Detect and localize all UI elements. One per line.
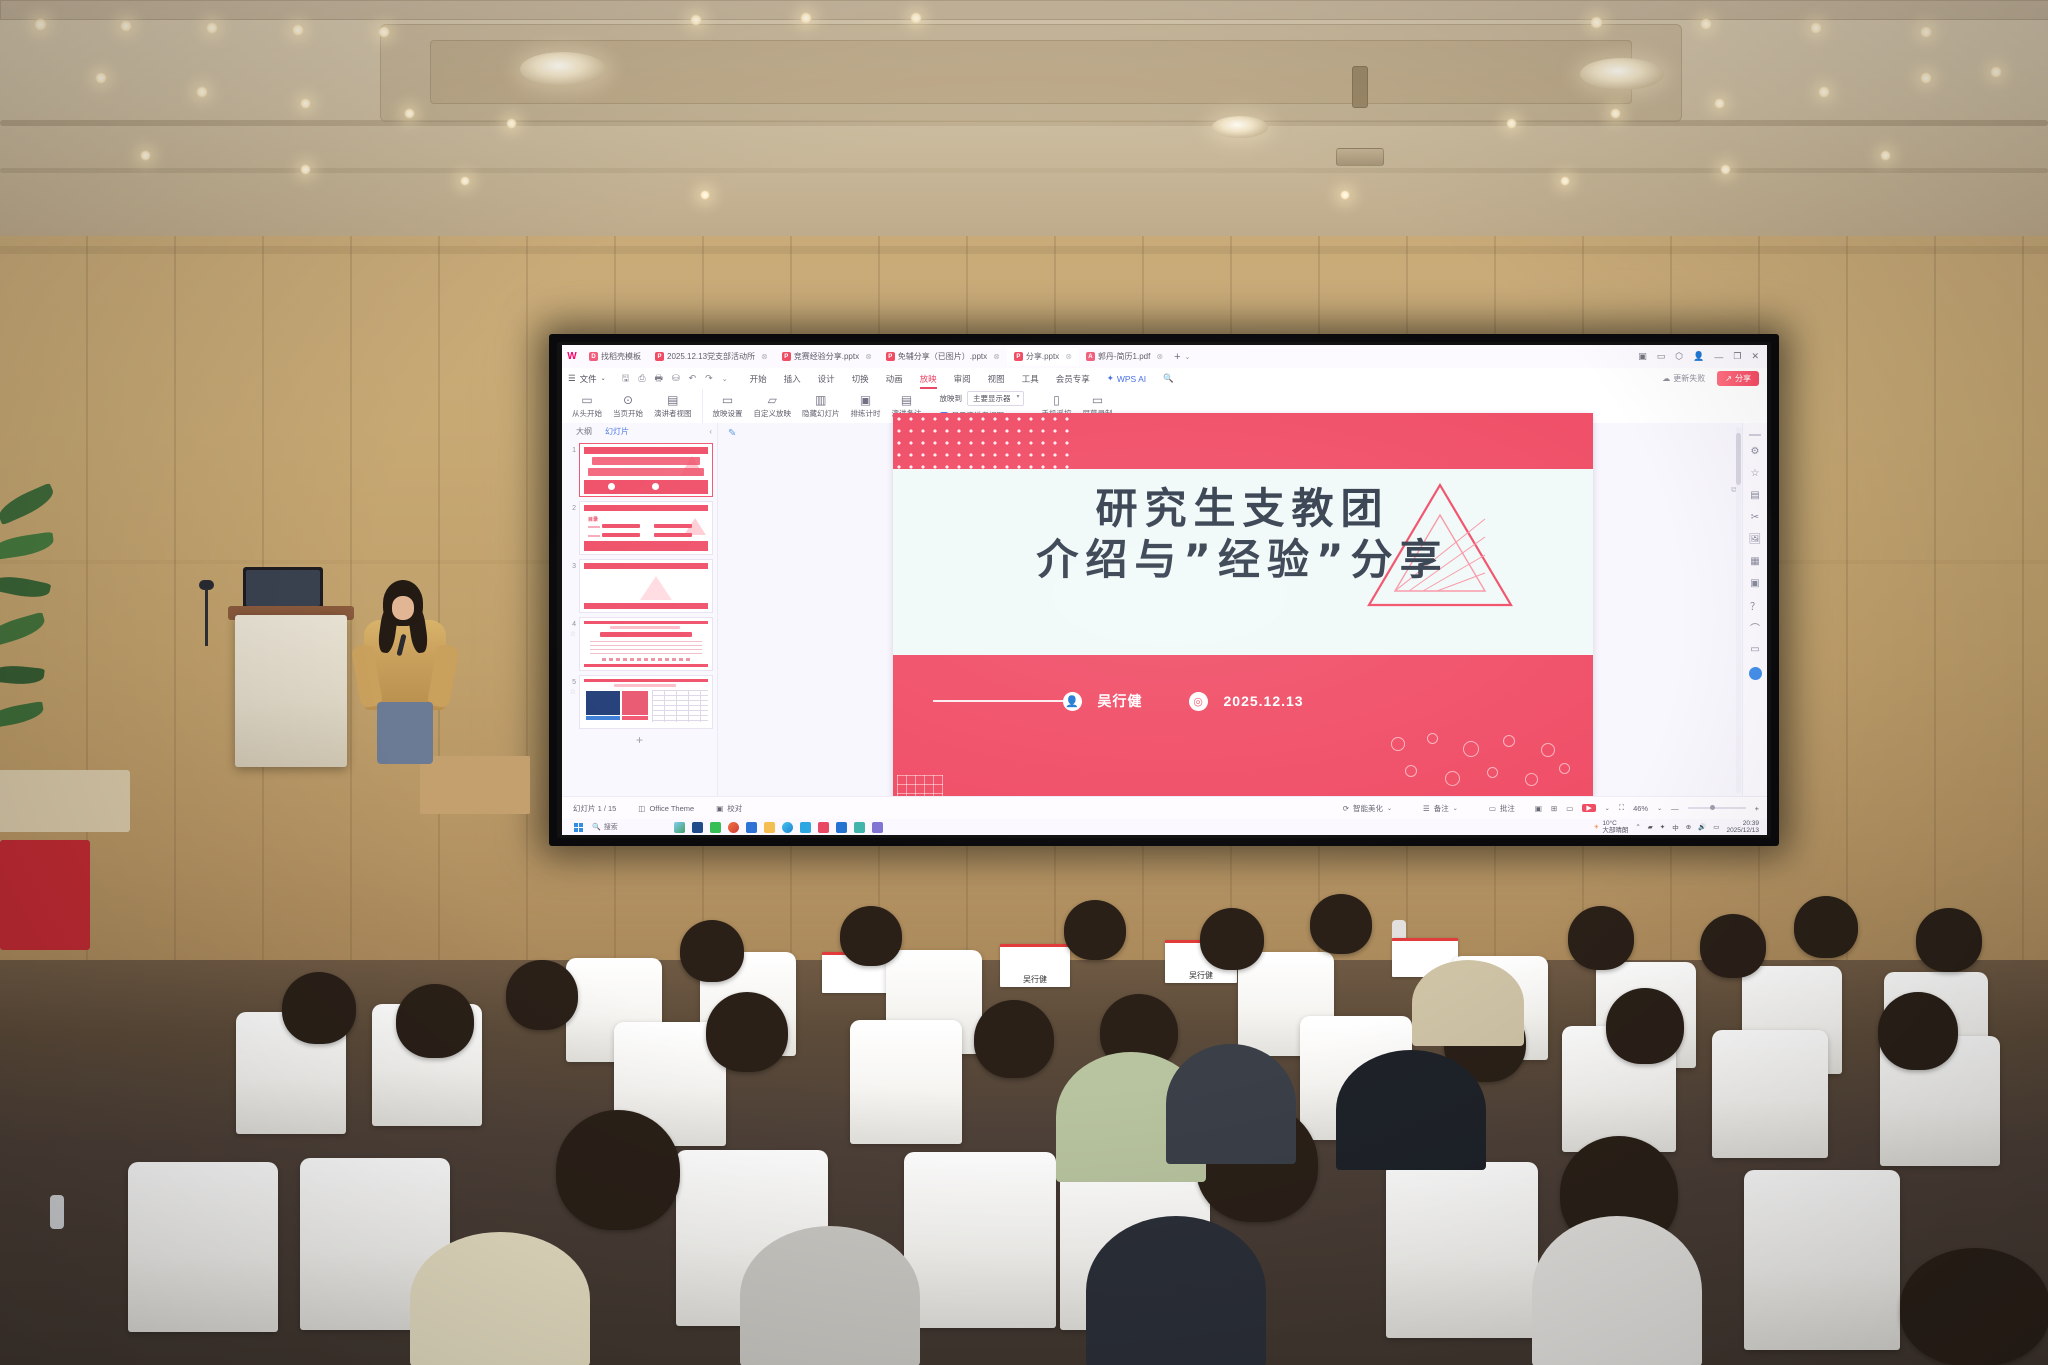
thumbnail-list: 1 2: [562, 439, 717, 797]
play-current-icon: ⊙: [623, 394, 633, 406]
tab-slides[interactable]: 幻灯片: [605, 426, 629, 437]
show-settings-button[interactable]: ▭ 放映设置: [713, 394, 743, 423]
notes-icon: ☰: [1423, 804, 1430, 813]
share-button[interactable]: ↗ 分享: [1717, 371, 1759, 386]
shapes-icon[interactable]: ✂: [1749, 511, 1762, 524]
feedback-icon[interactable]: ▭: [1749, 643, 1762, 656]
presentation-date: 2025.12.13: [1224, 693, 1304, 709]
tab-label: 分享.pptx: [1026, 351, 1059, 362]
rehearse-timing-icon: ▣: [860, 394, 871, 406]
screen-record-icon: ▭: [1092, 394, 1103, 406]
update-status[interactable]: ☁ 更新失败: [1662, 373, 1705, 384]
chevron-left-icon[interactable]: ‹: [709, 427, 712, 436]
screenshot-icon[interactable]: ▣: [1638, 351, 1647, 362]
slide-number: 1: [572, 447, 576, 454]
slide-canvas-area: ✎: [718, 423, 1767, 797]
close-icon[interactable]: ⊗: [1156, 352, 1163, 361]
slide-number: 5: [572, 679, 576, 686]
headset-icon[interactable]: ⌒: [1749, 621, 1762, 634]
bluetooth-icon[interactable]: ✦: [1660, 823, 1665, 831]
weather-text: 10°C 大部晴朗: [1602, 820, 1628, 834]
tab-label: 郭丹-简历1.pdf: [1098, 351, 1150, 362]
thumbnail-row[interactable]: 1: [562, 441, 717, 499]
undo-icon[interactable]: ↶: [689, 373, 697, 384]
thumbnail-row[interactable]: 5 ☆: [562, 673, 717, 731]
ppt-icon: P: [886, 352, 895, 361]
button-label: 隐藏幻灯片: [802, 408, 840, 419]
projector-screen: W D 找稻壳模板 P 2025.12.13党支部活动所 ⊗ P 竞赛经验分享.…: [562, 345, 1767, 835]
slide-canvas[interactable]: 研究生支教团 介绍与”经验”分享 👤 吴行健 ◎ 2025.12.13: [893, 413, 1593, 807]
ceiling: [0, 0, 2048, 250]
divider: [933, 700, 1063, 702]
globe-icon[interactable]: ⊕: [1686, 823, 1691, 831]
speaker-face: [392, 596, 414, 620]
slide-meta-row: 👤 吴行健 ◎ 2025.12.13: [893, 691, 1593, 711]
ai-ball-icon[interactable]: [1749, 667, 1762, 680]
close-icon[interactable]: ⊗: [865, 352, 872, 361]
slide-thumbnail-1[interactable]: [579, 443, 713, 497]
panel-tabs: 大纲 幻灯片 ‹: [562, 423, 717, 439]
play-from-start-icon: ▭: [581, 394, 592, 406]
notes-button[interactable]: ☰ 备注 ⌄: [1412, 803, 1469, 814]
name-card-text: 吴行健: [1189, 970, 1213, 981]
theme-label: Office Theme: [649, 804, 694, 813]
chevron-down-icon: ⌄: [1387, 805, 1392, 812]
table-icon[interactable]: ▦: [1749, 555, 1762, 568]
redo-icon[interactable]: ↷: [705, 373, 713, 384]
weather-widget[interactable]: ☀ 10°C 大部晴朗: [1594, 820, 1629, 834]
taskbar-tray: ☀ 10°C 大部晴朗 ⌃ ▰ ✦ 中 ⊕ 🔊 ▭ 20:39: [1594, 820, 1767, 835]
reading-view-icon[interactable]: ▭: [1566, 804, 1573, 813]
window-tile-icon[interactable]: ▭: [1657, 351, 1666, 362]
slide-dot-pattern: [893, 413, 1069, 469]
close-icon[interactable]: ⊗: [1065, 352, 1072, 361]
custom-show-icon: ▱: [768, 394, 777, 406]
photos-icon[interactable]: [674, 822, 685, 833]
share-icon: ↗: [1725, 374, 1732, 383]
theme-icon: ◫: [638, 804, 645, 813]
podium-monitor: [243, 567, 323, 609]
monitor-select-row: 放映到 主要显示器: [940, 391, 1024, 406]
spellcheck-label: 校对: [727, 803, 742, 814]
ribbon-tab-slideshow[interactable]: 放映: [920, 373, 937, 385]
water-bottle: [50, 1195, 64, 1229]
zoom-slider-knob[interactable]: [1710, 805, 1715, 810]
wps-logo: W: [562, 351, 582, 362]
chevron-down-icon[interactable]: ⌄: [1605, 805, 1610, 812]
thumbnail-row[interactable]: 4 ☆: [562, 615, 717, 673]
wps-office-window: W D 找稻壳模板 P 2025.12.13党支部活动所 ⊗ P 竞赛经验分享.…: [562, 345, 1767, 835]
button-label: 自定义放映: [754, 408, 792, 419]
button-label: 放映设置: [713, 408, 743, 419]
slide-number: 3: [572, 563, 576, 570]
speaker-legs: [377, 702, 433, 764]
taskbar-left: 🔍 搜索: [562, 822, 618, 832]
ai-spark-icon: ✦: [1107, 373, 1114, 384]
show-settings-icon: ▭: [722, 394, 733, 406]
network-icon[interactable]: ▰: [1648, 823, 1653, 831]
settings-sliders-icon[interactable]: ⚙: [1749, 445, 1762, 458]
clock-date: 2025/12/13: [1726, 827, 1759, 834]
clock-time: 20:39: [1743, 820, 1759, 827]
custom-show-button[interactable]: ▱ 自定义放映: [754, 394, 792, 423]
ribbon-tab-review[interactable]: 审阅: [954, 373, 971, 385]
button-label: 排练计时: [851, 408, 881, 419]
minimize-button[interactable]: —: [1714, 352, 1723, 362]
tab-ppt-1[interactable]: P 2025.12.13党支部活动所 ⊗: [648, 348, 775, 366]
normal-view-icon[interactable]: ▣: [1535, 804, 1542, 813]
tab-label: 2025.12.13党支部活动所: [667, 351, 755, 362]
tab-label: 竞赛经验分享.pptx: [794, 351, 859, 362]
slide-sorter-icon[interactable]: ⊞: [1551, 804, 1557, 813]
ribbon-tab-insert[interactable]: 插入: [784, 373, 801, 385]
hide-slide-button[interactable]: ▥ 隐藏幻灯片: [802, 394, 840, 423]
cloud-sync-icon[interactable]: ⛁: [672, 373, 680, 384]
pdf-icon: A: [1086, 352, 1095, 361]
layout-icon[interactable]: ▣: [1749, 577, 1762, 590]
person-icon: 👤: [1063, 692, 1082, 711]
chevron-down-icon: ⌄: [1453, 805, 1458, 812]
potted-plant: [0, 470, 100, 800]
microphone-stand: [205, 588, 208, 646]
speaker-notes-icon: ▤: [901, 394, 912, 406]
monitor-select[interactable]: 主要显示器: [967, 391, 1024, 406]
files-icon[interactable]: [692, 822, 703, 833]
slide-number: 2: [572, 505, 576, 512]
ribbon-tab-animation[interactable]: 动画: [886, 373, 903, 385]
comment-label: 批注: [1500, 803, 1515, 814]
ribbon-tab-view[interactable]: 视图: [988, 373, 1005, 385]
notes-label: 备注: [1434, 803, 1449, 814]
taskbar-clock[interactable]: 20:39 2025/12/13: [1726, 820, 1759, 835]
slide-thumbnail-5[interactable]: [579, 675, 713, 729]
button-label: 当页开始: [613, 408, 643, 419]
hamburger-icon: ☰: [568, 373, 576, 384]
thumbnail-row[interactable]: 2 目录: [562, 499, 717, 557]
weather-icon: ☀: [1594, 823, 1600, 831]
print-preview-icon[interactable]: ⎙: [638, 373, 645, 384]
ppt-icon: P: [782, 352, 791, 361]
spellcheck-button[interactable]: ▣ 校对: [705, 803, 753, 814]
chevron-down-icon[interactable]: ⌄: [1657, 805, 1662, 812]
weather-desc: 大部晴朗: [1602, 827, 1628, 834]
red-storage-box: [0, 840, 90, 950]
zoom-in-button[interactable]: +: [1755, 804, 1759, 813]
presenter-view-button[interactable]: ▤ 演讲者视图: [654, 394, 692, 423]
bubble-decoration: [1383, 731, 1583, 801]
spellcheck-icon: ▣: [716, 804, 723, 813]
presenter-view-icon: ▤: [667, 394, 678, 406]
comment-button[interactable]: ▭ 批注: [1478, 803, 1526, 814]
ribbon-right-actions: ☁ 更新失败 ↗ 分享: [1662, 371, 1767, 386]
picture-icon[interactable]: 🖼: [1749, 533, 1762, 546]
wps-ai-button[interactable]: ✦ WPS AI: [1107, 373, 1146, 384]
scrollbar-thumb[interactable]: [1736, 433, 1741, 485]
file-menu-button[interactable]: ☰ 文件 ⌄: [562, 373, 614, 385]
close-icon[interactable]: ⊗: [761, 352, 768, 361]
tab-pdf[interactable]: A 郭丹-简历1.pdf ⊗: [1079, 348, 1170, 366]
vertical-scrollbar[interactable]: [1736, 427, 1741, 793]
print-icon[interactable]: 🖶: [655, 371, 664, 387]
wps-ai-label: WPS AI: [1117, 374, 1146, 384]
cloud-icon: ☁: [1662, 374, 1670, 383]
hide-slide-icon: ▥: [815, 394, 826, 406]
slide-counter: 幻灯片 1 / 15: [562, 803, 627, 814]
tab-list-chevron-icon[interactable]: ⌄: [1185, 353, 1191, 361]
tab-label: 找稻壳模板: [601, 351, 641, 362]
ribbon-tab-start[interactable]: 开始: [750, 373, 767, 385]
update-status-label: 更新失败: [1673, 373, 1705, 384]
toolbar-group-start: ▭ 从头开始 ⊙ 当页开始 ▤ 演讲者视图: [562, 389, 702, 423]
ribbon-tab-tools[interactable]: 工具: [1022, 373, 1039, 385]
slide-title: 研究生支教团 介绍与”经验”分享: [893, 483, 1593, 585]
search-icon[interactable]: 🔍: [1163, 373, 1174, 384]
name-card: 吴行健: [1000, 944, 1070, 987]
search-icon: 🔍: [592, 823, 601, 831]
tab-ppt-3[interactable]: P 免辅分享（已图片）.pptx ⊗: [879, 348, 1007, 366]
presenter-name: 吴行健: [1098, 691, 1143, 711]
theme-indicator[interactable]: ◫ Office Theme: [627, 804, 705, 813]
maximize-button[interactable]: ❐: [1733, 351, 1741, 362]
thumbnail-row[interactable]: 3: [562, 557, 717, 615]
beautify-button[interactable]: ⟳ 智能美化 ⌄: [1332, 803, 1403, 814]
button-label: 从头开始: [572, 408, 602, 419]
tab-label: 免辅分享（已图片）.pptx: [898, 351, 987, 362]
tab-outline[interactable]: 大纲: [576, 426, 592, 437]
video-icon[interactable]: [836, 822, 847, 833]
weather-temp: 10°C: [1602, 820, 1617, 827]
chevron-down-icon: ⌄: [601, 375, 606, 382]
slide-navigator-panel: 大纲 幻灯片 ‹ 1: [562, 423, 718, 797]
slide-title-line1: 研究生支教团: [893, 483, 1593, 534]
fit-to-window-icon[interactable]: ⛶: [1619, 803, 1624, 813]
folder-icon[interactable]: [764, 822, 775, 833]
taskbar-app-icons: [674, 822, 883, 833]
tab-ppt-2[interactable]: P 竞赛经验分享.pptx ⊗: [775, 348, 879, 366]
window-controls: ▣ ▭ ⬡ 👤 — ❐ ✕: [1638, 351, 1767, 362]
close-button[interactable]: ✕: [1751, 351, 1759, 362]
slide-number: 4: [572, 621, 576, 628]
ribbon-tab-bar: ☰ 文件 ⌄ 🖫 ⎙ 🖶 ⛁ ↶ ↷ ⌄ 开始 插入 设计 切换: [562, 368, 1767, 389]
monitor-label: 放映到: [940, 393, 963, 404]
search-label: 搜索: [604, 822, 618, 832]
editor-body: 大纲 幻灯片 ‹ 1: [562, 423, 1767, 797]
slide-thumbnail-4[interactable]: [579, 617, 713, 671]
clock-icon: ◎: [1189, 692, 1208, 711]
zoom-out-button[interactable]: —: [1671, 804, 1679, 813]
ribbon-tabs: 开始 插入 设计 切换 动画 放映 审阅 视图 工具 会员专享 ✦ WPS AI…: [736, 373, 1174, 385]
right-sidebar-rail: ⚙ ☆ ▤ ✂ 🖼 ▦ ▣ ？ ⌒ ▭: [1742, 423, 1767, 797]
chevron-up-icon[interactable]: ⌃: [1635, 823, 1640, 831]
save-icon[interactable]: 🖫: [622, 371, 630, 387]
star-icon[interactable]: ☆: [570, 630, 576, 638]
status-right-group: ⟳ 智能美化 ⌄ ☰ 备注 ⌄ ▭ 批注 ▣ ⊞ ▭: [1332, 803, 1767, 814]
slide-title-line2: 介绍与”经验”分享: [893, 534, 1593, 585]
play-icon[interactable]: ▶: [1582, 804, 1595, 812]
rehearse-timing-button[interactable]: ▣ 排练计时: [851, 394, 881, 423]
tools-icon[interactable]: [872, 822, 883, 833]
box-icon[interactable]: ⬡: [1675, 351, 1683, 362]
slide-thumbnail-3[interactable]: [579, 559, 713, 613]
document-tab-bar: W D 找稻壳模板 P 2025.12.13党支部活动所 ⊗ P 竞赛经验分享.…: [562, 345, 1767, 368]
ribbon-tab-design[interactable]: 设计: [818, 373, 835, 385]
docer-icon: D: [589, 352, 598, 361]
battery-icon[interactable]: ▭: [1713, 823, 1719, 831]
taskbar-search[interactable]: 🔍 搜索: [592, 822, 618, 832]
play-current-button[interactable]: ⊙ 当页开始: [613, 394, 643, 423]
pen-tool-icon[interactable]: ✎: [728, 428, 736, 439]
comment-icon: ▭: [1489, 804, 1496, 813]
windows-start-icon[interactable]: [574, 823, 583, 832]
ppt-icon: P: [655, 352, 664, 361]
divider: [1749, 434, 1761, 436]
phone-remote-icon: ▯: [1053, 394, 1060, 406]
ribbon-tab-member[interactable]: 会员专享: [1056, 373, 1090, 385]
store-icon[interactable]: [746, 822, 757, 833]
zoom-level[interactable]: 46%: [1633, 804, 1648, 813]
ribbon-tab-transition[interactable]: 切换: [852, 373, 869, 385]
status-bar: 幻灯片 1 / 15 ◫ Office Theme ▣ 校对 ⟳ 智能美化 ⌄: [562, 796, 1767, 819]
ime-indicator[interactable]: 中: [1672, 822, 1679, 832]
button-label: 演讲者视图: [654, 408, 692, 419]
customize-icon[interactable]: ⌄: [722, 375, 728, 383]
file-label: 文件: [580, 373, 597, 385]
music-icon[interactable]: [854, 822, 865, 833]
add-slide-button[interactable]: +: [562, 731, 717, 749]
lecture-hall-scene: W D 找稻壳模板 P 2025.12.13党支部活动所 ⊗ P 竞赛经验分享.…: [0, 0, 2048, 1365]
qq-icon[interactable]: [800, 822, 811, 833]
browser-icon[interactable]: [728, 822, 739, 833]
tab-docer[interactable]: D 找稻壳模板: [582, 348, 648, 366]
side-table: [0, 770, 130, 832]
ppt-icon: P: [1014, 352, 1023, 361]
beautify-icon: ⟳: [1343, 804, 1349, 813]
name-card-text: 吴行健: [1023, 974, 1047, 985]
slide-thumbnail-2[interactable]: 目录: [579, 501, 713, 555]
quick-access-toolbar: 🖫 ⎙ 🖶 ⛁ ↶ ↷ ⌄: [614, 371, 736, 387]
side-desk: [420, 756, 530, 814]
volume-icon[interactable]: 🔊: [1698, 823, 1706, 831]
zoom-slider[interactable]: [1688, 807, 1746, 809]
avatar[interactable]: 👤: [1693, 351, 1704, 362]
edge-icon[interactable]: [782, 822, 793, 833]
tab-ppt-active[interactable]: P 分享.pptx ⊗: [1007, 348, 1079, 366]
beautify-label: 智能美化: [1353, 803, 1383, 814]
chart-icon[interactable]: ▤: [1749, 489, 1762, 502]
windows-taskbar: 🔍 搜索: [562, 819, 1767, 835]
new-tab-button[interactable]: +: [1170, 351, 1184, 363]
star-icon[interactable]: ☆: [570, 688, 576, 696]
star-icon[interactable]: ☆: [1749, 467, 1762, 480]
wechat-icon[interactable]: [710, 822, 721, 833]
share-label: 分享: [1735, 373, 1751, 384]
close-icon[interactable]: ⊗: [993, 352, 1000, 361]
play-from-start-button[interactable]: ▭ 从头开始: [572, 394, 602, 423]
podium: [235, 615, 347, 767]
help-icon[interactable]: ？: [1749, 599, 1762, 612]
wps-icon[interactable]: [818, 822, 829, 833]
